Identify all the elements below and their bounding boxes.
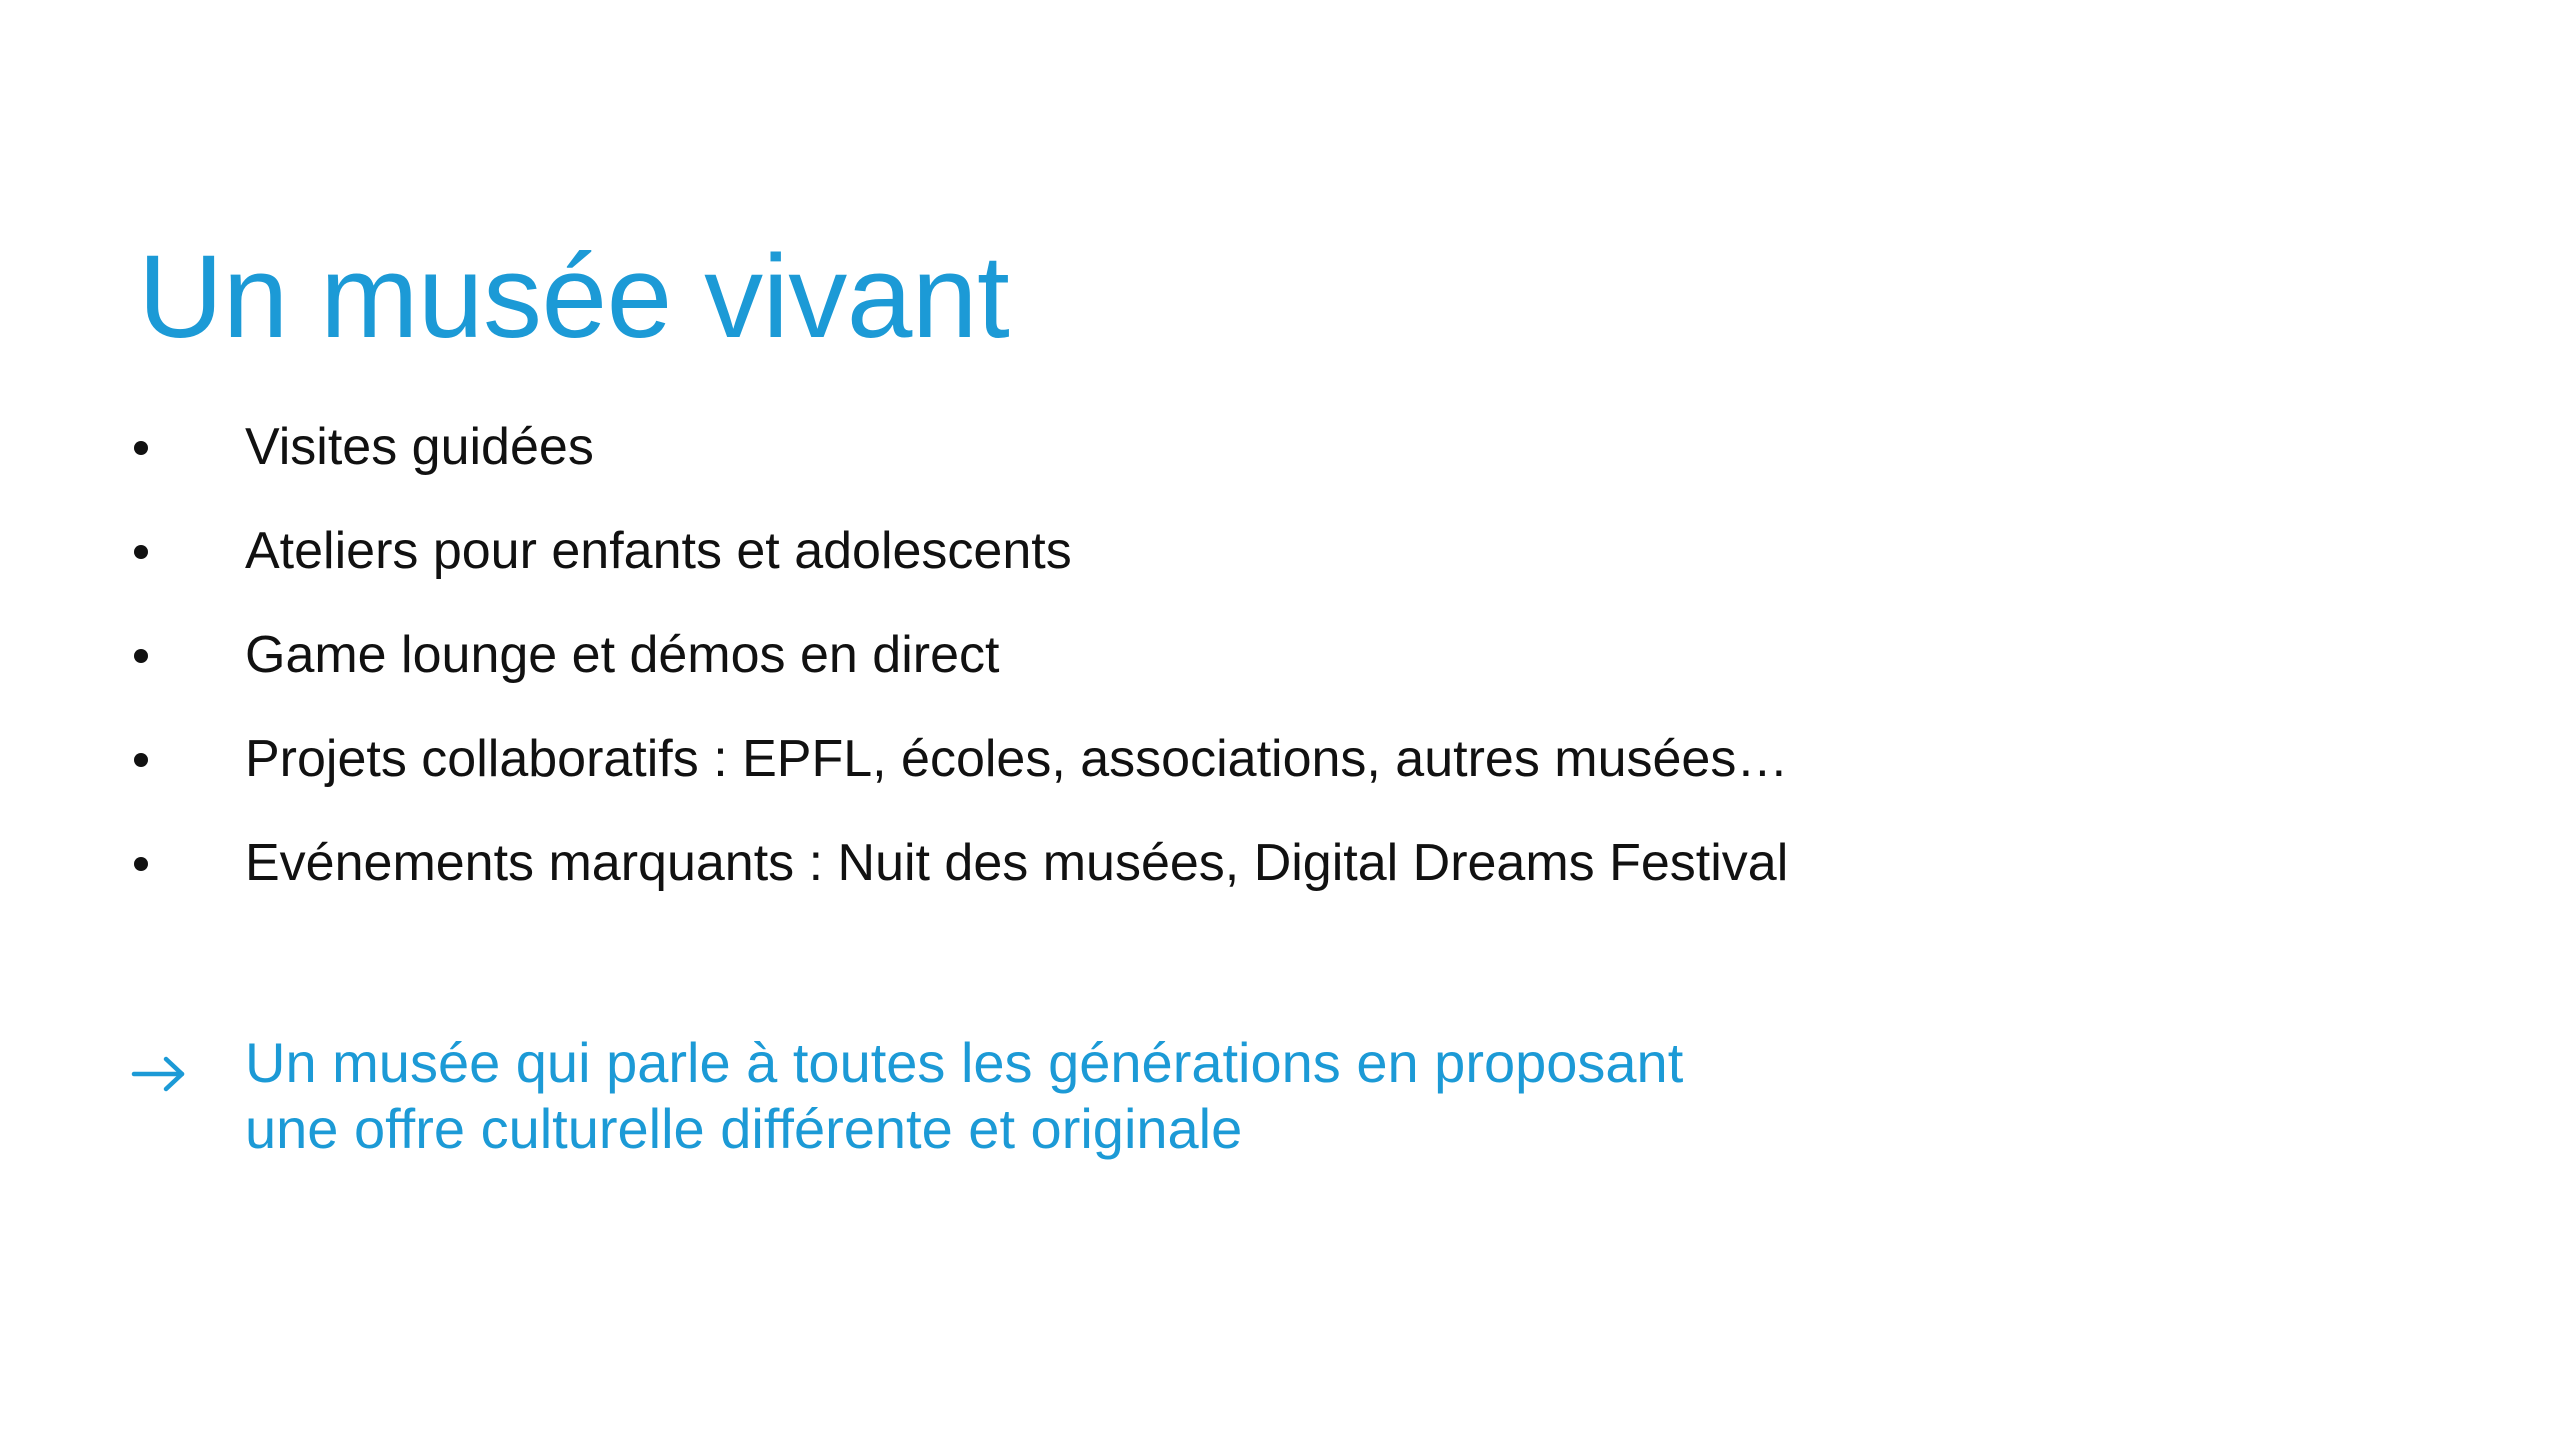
list-item: Projets collaboratifs : EPFL, écoles, as… [0,708,2400,812]
list-item: Evénements marquants : Nuit des musées, … [0,812,2400,916]
list-item-label: Game lounge et démos en direct [245,626,999,686]
arrow-right-icon [128,1042,192,1106]
list-item-label: Evénements marquants : Nuit des musées, … [245,834,1788,894]
slide-root: Un musée vivant Visites guidées Ateliers… [0,0,2560,1440]
bullet-dot-icon [134,441,148,455]
conclusion-block: Un musée qui parle à toutes les générati… [0,1030,2400,1162]
list-item: Visites guidées [0,396,2400,500]
bullet-dot-icon [134,649,148,663]
page-title: Un musée vivant [138,237,2338,357]
list-item-label: Ateliers pour enfants et adolescents [245,522,1072,582]
list-item: Game lounge et démos en direct [0,604,2400,708]
conclusion-line-1: Un musée qui parle à toutes les générati… [245,1030,1683,1096]
conclusion-line-2: une offre culturelle différente et origi… [245,1096,1683,1162]
list-item: Ateliers pour enfants et adolescents [0,500,2400,604]
bullet-dot-icon [134,753,148,767]
list-item-label: Projets collaboratifs : EPFL, écoles, as… [245,730,1788,790]
list-item-label: Visites guidées [245,418,594,478]
bullet-dot-icon [134,545,148,559]
bullet-dot-icon [134,857,148,871]
conclusion-text: Un musée qui parle à toutes les générati… [245,1030,1683,1162]
bullet-list: Visites guidées Ateliers pour enfants et… [0,396,2400,916]
